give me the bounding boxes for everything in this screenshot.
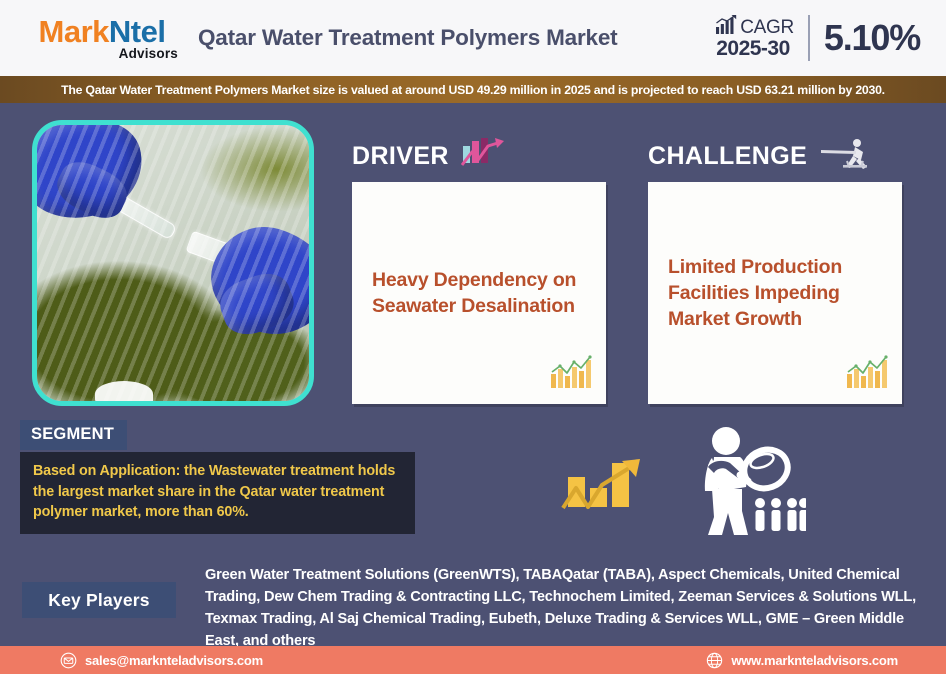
driver-label: DRIVER <box>352 142 449 171</box>
infographic-page: MarkNtel Advisors Qatar Water Treatment … <box>0 0 946 674</box>
footer-website-text: www.marknteladvisors.com <box>731 653 898 668</box>
challenge-label: CHALLENGE <box>648 142 807 171</box>
challenge-card-text: Limited Production Facilities Impeding M… <box>668 254 882 332</box>
driver-card-text: Heavy Dependency on Seawater Desalinatio… <box>372 267 586 319</box>
test-tube-icon <box>186 231 265 278</box>
driver-heading: DRIVER <box>352 138 505 175</box>
footer-bar: sales@marknteladvisors.com www.markntela… <box>0 646 946 674</box>
pink-bar-chart-arrow-icon <box>461 138 505 175</box>
cagr-label: CAGR <box>740 18 794 39</box>
key-players-text: Green Water Treatment Solutions (GreenWT… <box>205 565 917 653</box>
challenge-card: Limited Production Facilities Impeding M… <box>648 182 902 404</box>
gloved-hand-left <box>32 120 154 232</box>
logo-text-ntel: Ntel <box>109 14 166 49</box>
footer-email[interactable]: sales@marknteladvisors.com <box>60 652 263 669</box>
footer-email-text: sales@marknteladvisors.com <box>85 653 263 668</box>
logo-wordmark: MarkNtel <box>39 16 166 47</box>
page-title: Qatar Water Treatment Polymers Market <box>198 25 716 51</box>
driver-card: Heavy Dependency on Seawater Desalinatio… <box>352 182 606 404</box>
gloved-fingers-right <box>214 266 300 341</box>
photo-background <box>37 125 309 401</box>
water-sampling-photo <box>32 120 314 406</box>
envelope-icon <box>60 652 77 669</box>
cagr-top-row: CAGR <box>716 15 794 38</box>
cagr-label-group: CAGR 2025-30 <box>716 15 794 61</box>
segment-label: SEGMENT <box>20 420 127 450</box>
gloved-fingers-left <box>50 154 133 226</box>
pipette-icon <box>98 186 177 241</box>
orange-bar-chart-trend-icon <box>550 355 594 394</box>
market-size-banner: The Qatar Water Treatment Polymers Marke… <box>0 76 946 103</box>
footer-website[interactable]: www.marknteladvisors.com <box>706 652 898 669</box>
challenge-heading: CHALLENGE <box>648 138 873 175</box>
marknte-logo[interactable]: MarkNtel Advisors <box>22 16 182 61</box>
market-size-text: The Qatar Water Treatment Polymers Marke… <box>61 83 885 97</box>
key-players-badge: Key Players <box>22 582 176 618</box>
globe-icon <box>706 652 723 669</box>
cagr-divider <box>808 15 810 61</box>
logo-subtitle: Advisors <box>119 46 178 61</box>
segment-box: Based on Application: the Wastewater tre… <box>20 452 415 534</box>
person-magnifier-people-icon <box>678 425 806 542</box>
gold-bar-chart-arrow-icon <box>560 455 646 530</box>
hurdle-athlete-icon <box>819 138 873 175</box>
photo-foam <box>95 381 153 406</box>
cagr-years: 2025-30 <box>716 38 794 61</box>
bar-chart-growth-icon <box>716 15 737 38</box>
cagr-value: 5.10% <box>824 17 920 59</box>
header-bar: MarkNtel Advisors Qatar Water Treatment … <box>0 0 946 76</box>
logo-text-mark: Mark <box>39 14 109 49</box>
cagr-block: CAGR 2025-30 5.10% <box>716 15 920 61</box>
segment-text: Based on Application: the Wastewater tre… <box>33 461 401 523</box>
gloved-hand-right <box>199 214 314 347</box>
orange-bar-chart-trend-icon <box>846 355 890 394</box>
